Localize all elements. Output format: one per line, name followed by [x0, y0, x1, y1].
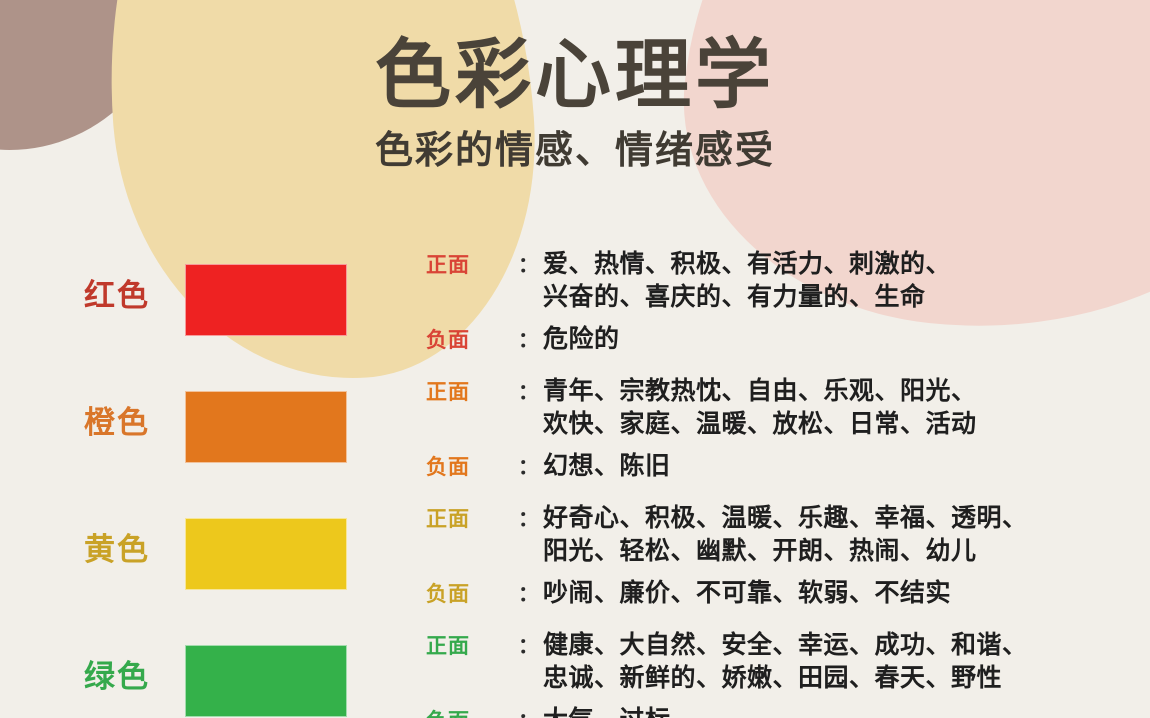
- color-swatch: [185, 391, 347, 463]
- trait-tag: 负面: [426, 708, 518, 718]
- trait-colon: ：: [518, 708, 539, 718]
- trait-colon: ：: [518, 581, 539, 608]
- trait-words: 健康、大自然、安全、幸运、成功、和谐、: [543, 629, 1126, 662]
- trait-line: 正面：健康、大自然、安全、幸运、成功、和谐、: [426, 629, 1126, 662]
- color-name-label: 红色: [84, 280, 180, 311]
- trait-tag: 正面: [426, 252, 518, 279]
- trait-colon: ：: [518, 327, 539, 354]
- trait-line: 正面：青年、宗教热忱、自由、乐观、阳光、: [426, 375, 1126, 408]
- color-swatch: [185, 264, 347, 336]
- color-name-label: 橙色: [84, 407, 180, 438]
- trait-words: 青年、宗教热忱、自由、乐观、阳光、: [543, 375, 1126, 408]
- trait-colon: ：: [518, 379, 539, 406]
- trait-words: 兴奋的、喜庆的、有力量的、生命: [543, 281, 1126, 314]
- trait-tag: 正面: [426, 379, 518, 406]
- trait-line: 正面：爱、热情、积极、有活力、刺激的、: [426, 248, 1126, 281]
- color-row: 橙色正面：青年、宗教热忱、自由、乐观、阳光、正面：欢快、家庭、温暖、放松、日常、…: [0, 373, 1150, 500]
- trait-line: 正面：好奇心、积极、温暖、乐趣、幸福、透明、: [426, 502, 1126, 535]
- trait-words: 大气、过标: [543, 704, 1126, 718]
- trait-spacer: [426, 694, 1126, 704]
- trait-tag: 负面: [426, 581, 518, 608]
- trait-tag: 正面: [426, 506, 518, 533]
- color-swatch: [185, 518, 347, 590]
- trait-line: 负面：危险的: [426, 323, 1126, 356]
- trait-words: 爱、热情、积极、有活力、刺激的、: [543, 248, 1126, 281]
- trait-line-continuation: 正面：忠诚、新鲜的、娇嫩、田园、春天、野性: [426, 662, 1126, 695]
- trait-colon: ：: [518, 633, 539, 660]
- color-rows: 红色正面：爱、热情、积极、有活力、刺激的、正面：兴奋的、喜庆的、有力量的、生命负…: [0, 246, 1150, 718]
- trait-words: 吵闹、廉价、不可靠、软弱、不结实: [543, 577, 1126, 610]
- color-name-label: 绿色: [84, 661, 180, 692]
- trait-colon: ：: [518, 454, 539, 481]
- trait-block: 正面：好奇心、积极、温暖、乐趣、幸福、透明、正面：阳光、轻松、幽默、开朗、热闹、…: [426, 502, 1126, 610]
- page-subtitle: 色彩的情感、情绪感受: [0, 114, 1150, 170]
- trait-words: 忠诚、新鲜的、娇嫩、田园、春天、野性: [543, 662, 1126, 695]
- color-row: 黄色正面：好奇心、积极、温暖、乐趣、幸福、透明、正面：阳光、轻松、幽默、开朗、热…: [0, 500, 1150, 627]
- trait-line: 负面：大气、过标: [426, 704, 1126, 718]
- trait-spacer: [426, 313, 1126, 323]
- trait-colon: ：: [518, 252, 539, 279]
- poster-canvas: 色彩心理学 色彩的情感、情绪感受 红色正面：爱、热情、积极、有活力、刺激的、正面…: [0, 0, 1150, 718]
- trait-block: 正面：青年、宗教热忱、自由、乐观、阳光、正面：欢快、家庭、温暖、放松、日常、活动…: [426, 375, 1126, 483]
- trait-tag: 正面: [426, 633, 518, 660]
- trait-line: 负面：吵闹、廉价、不可靠、软弱、不结实: [426, 577, 1126, 610]
- page-title: 色彩心理学: [0, 0, 1150, 114]
- trait-tag: 负面: [426, 327, 518, 354]
- trait-words: 好奇心、积极、温暖、乐趣、幸福、透明、: [543, 502, 1126, 535]
- trait-words: 阳光、轻松、幽默、开朗、热闹、幼儿: [543, 535, 1126, 568]
- color-swatch: [185, 645, 347, 717]
- trait-colon: ：: [518, 506, 539, 533]
- trait-line-continuation: 正面：兴奋的、喜庆的、有力量的、生命: [426, 281, 1126, 314]
- trait-block: 正面：健康、大自然、安全、幸运、成功、和谐、正面：忠诚、新鲜的、娇嫩、田园、春天…: [426, 629, 1126, 718]
- color-name-label: 黄色: [84, 534, 180, 565]
- color-row: 绿色正面：健康、大自然、安全、幸运、成功、和谐、正面：忠诚、新鲜的、娇嫩、田园、…: [0, 627, 1150, 718]
- trait-line: 负面：幻想、陈旧: [426, 450, 1126, 483]
- trait-tag: 负面: [426, 454, 518, 481]
- poster-header: 色彩心理学 色彩的情感、情绪感受: [0, 0, 1150, 170]
- trait-words: 幻想、陈旧: [543, 450, 1126, 483]
- trait-block: 正面：爱、热情、积极、有活力、刺激的、正面：兴奋的、喜庆的、有力量的、生命负面：…: [426, 248, 1126, 356]
- color-row: 红色正面：爱、热情、积极、有活力、刺激的、正面：兴奋的、喜庆的、有力量的、生命负…: [0, 246, 1150, 373]
- trait-words: 危险的: [543, 323, 1126, 356]
- trait-spacer: [426, 440, 1126, 450]
- trait-line-continuation: 正面：阳光、轻松、幽默、开朗、热闹、幼儿: [426, 535, 1126, 568]
- trait-line-continuation: 正面：欢快、家庭、温暖、放松、日常、活动: [426, 408, 1126, 441]
- trait-words: 欢快、家庭、温暖、放松、日常、活动: [543, 408, 1126, 441]
- trait-spacer: [426, 567, 1126, 577]
